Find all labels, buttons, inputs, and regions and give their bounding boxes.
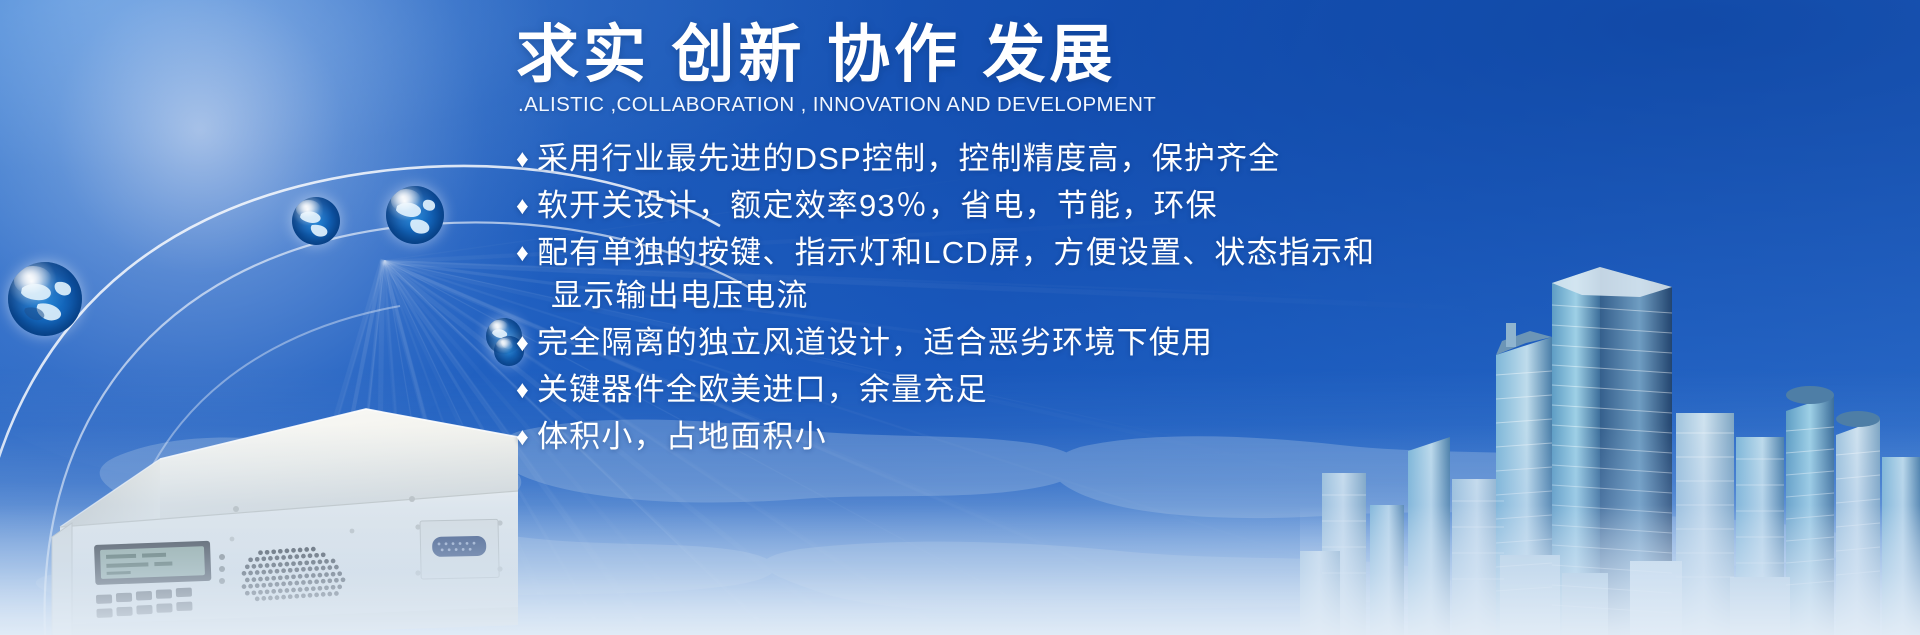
diamond-bullet-icon: ♦ <box>516 323 530 363</box>
list-item: ♦ 体积小，占地面积小 <box>516 417 1516 457</box>
globe-highlight <box>391 189 421 211</box>
globe-highlight <box>489 320 508 334</box>
list-item-continuation: 显示输出电压电流 <box>516 276 1516 316</box>
feature-list: ♦ 采用行业最先进的DSP控制，控制精度高，保护齐全 ♦ 软开关设计，额定效率9… <box>516 139 1516 457</box>
list-item-label: 配有单独的按键、指示灯和LCD屏，方便设置、状态指示和 <box>537 233 1375 273</box>
list-item: ♦ 软开关设计，额定效率93％，省电，节能，环保 <box>516 186 1516 226</box>
page-subtitle: .ALISTIC ,COLLABORATION , INNOVATION AND… <box>518 93 1516 117</box>
diamond-bullet-icon: ♦ <box>516 370 530 410</box>
globe-sphere <box>386 186 444 244</box>
diamond-bullet-icon: ♦ <box>516 233 530 273</box>
page-title: 求实 创新 协作 发展 <box>516 20 1516 91</box>
list-item-label: 软开关设计，额定效率93％，省电，节能，环保 <box>537 186 1218 226</box>
diamond-bullet-icon: ♦ <box>516 417 530 457</box>
list-item-label: 完全隔离的独立风道设计，适合恶劣环境下使用 <box>537 323 1213 363</box>
promo-banner: 求实 创新 协作 发展 .ALISTIC ,COLLABORATION , IN… <box>0 0 1920 635</box>
list-item: ♦ 关键器件全欧美进口，余量充足 <box>516 370 1516 410</box>
globe-sphere <box>292 197 340 245</box>
list-item-label: 体积小，占地面积小 <box>537 417 827 457</box>
list-item-label: 关键器件全欧美进口，余量充足 <box>537 370 988 410</box>
banner-copy: 求实 创新 协作 发展 .ALISTIC ,COLLABORATION , IN… <box>516 20 1516 464</box>
list-item: ♦ 完全隔离的独立风道设计，适合恶劣环境下使用 <box>516 323 1516 363</box>
diamond-bullet-icon: ♦ <box>516 186 530 226</box>
list-item-label: 显示输出电压电流 <box>551 276 809 316</box>
globe-highlight <box>296 200 321 218</box>
diamond-bullet-icon: ♦ <box>516 139 530 179</box>
list-item-label: 采用行业最先进的DSP控制，控制精度高，保护齐全 <box>537 139 1281 179</box>
globe-sphere <box>8 262 82 336</box>
globe-highlight <box>14 266 52 294</box>
list-item: ♦ 配有单独的按键、指示灯和LCD屏，方便设置、状态指示和 <box>516 233 1516 273</box>
list-item: ♦ 采用行业最先进的DSP控制，控制精度高，保护齐全 <box>516 139 1516 179</box>
